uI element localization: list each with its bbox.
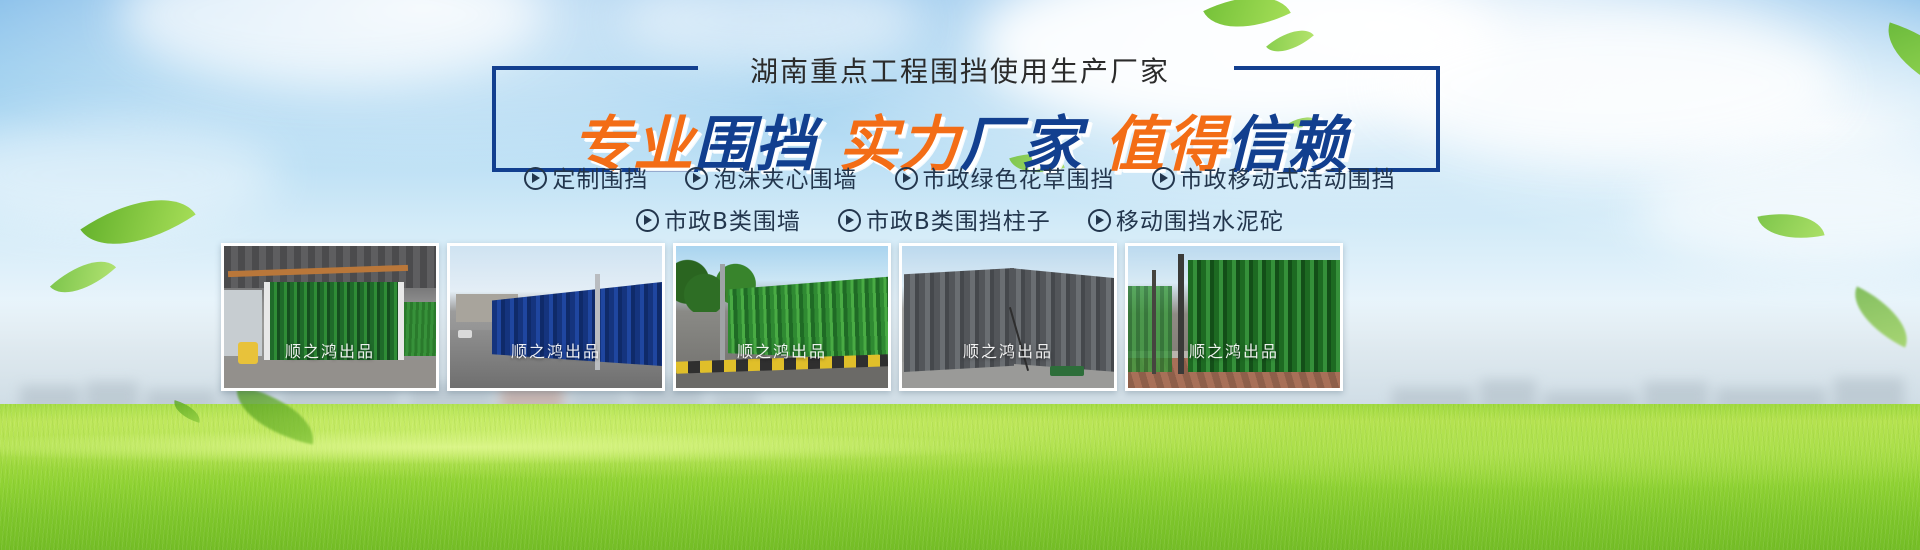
product-photo-strip: 顺之鸿出品 顺之鸿出品 顺之鸿出品 顺之鸿出品 顺之鸿出品 [0,243,1920,393]
play-circle-icon [636,209,659,232]
feature-label: 市政绿色花草围挡 [923,167,1115,193]
feature-item[interactable]: 定制围挡 [524,160,648,194]
feature-list: 定制围挡 泡沫夹心围墙 市政绿色花草围挡 市政移动式活动围挡 市政B类围墙 市政… [0,160,1920,244]
play-circle-icon [1152,167,1175,190]
feature-item[interactable]: 移动围挡水泥砣 [1088,202,1284,236]
feature-item[interactable]: 市政绿色花草围挡 [895,160,1115,194]
feature-label: 市政B类围挡柱子 [866,209,1051,235]
feature-item[interactable]: 市政B类围墙 [636,202,801,236]
feature-label: 定制围挡 [552,167,648,193]
banner-stage: 湖南重点工程围挡使用生产厂家 专业围挡实力厂家值得信赖 定制围挡 泡沫夹心围墙 … [0,0,1920,550]
play-circle-icon [1088,209,1111,232]
play-circle-icon [524,167,547,190]
product-photo-3-image [676,246,888,388]
feature-label: 市政移动式活动围挡 [1180,167,1396,193]
feature-row-1: 定制围挡 泡沫夹心围墙 市政绿色花草围挡 市政移动式活动围挡 [0,160,1920,194]
product-photo-4[interactable]: 顺之鸿出品 [899,243,1117,391]
feature-item[interactable]: 市政移动式活动围挡 [1152,160,1396,194]
feature-row-2: 市政B类围墙 市政B类围挡柱子 移动围挡水泥砣 [0,202,1920,236]
product-photo-4-image [902,246,1114,388]
feature-label: 移动围挡水泥砣 [1116,209,1284,235]
feature-item[interactable]: 泡沫夹心围墙 [685,160,857,194]
product-photo-1[interactable]: 顺之鸿出品 [221,243,439,391]
product-photo-1-image [224,246,436,388]
play-circle-icon [895,167,918,190]
banner-subtitle: 湖南重点工程围挡使用生产厂家 [0,50,1920,90]
feature-item[interactable]: 市政B类围挡柱子 [838,202,1051,236]
play-circle-icon [838,209,861,232]
play-circle-icon [685,167,708,190]
feature-label: 市政B类围墙 [664,209,801,235]
product-photo-2-image [450,246,662,388]
product-photo-5[interactable]: 顺之鸿出品 [1125,243,1343,391]
product-photo-2[interactable]: 顺之鸿出品 [447,243,665,391]
product-photo-3[interactable]: 顺之鸿出品 [673,243,891,391]
product-photo-5-image [1128,246,1340,388]
feature-label: 泡沫夹心围墙 [713,167,857,193]
